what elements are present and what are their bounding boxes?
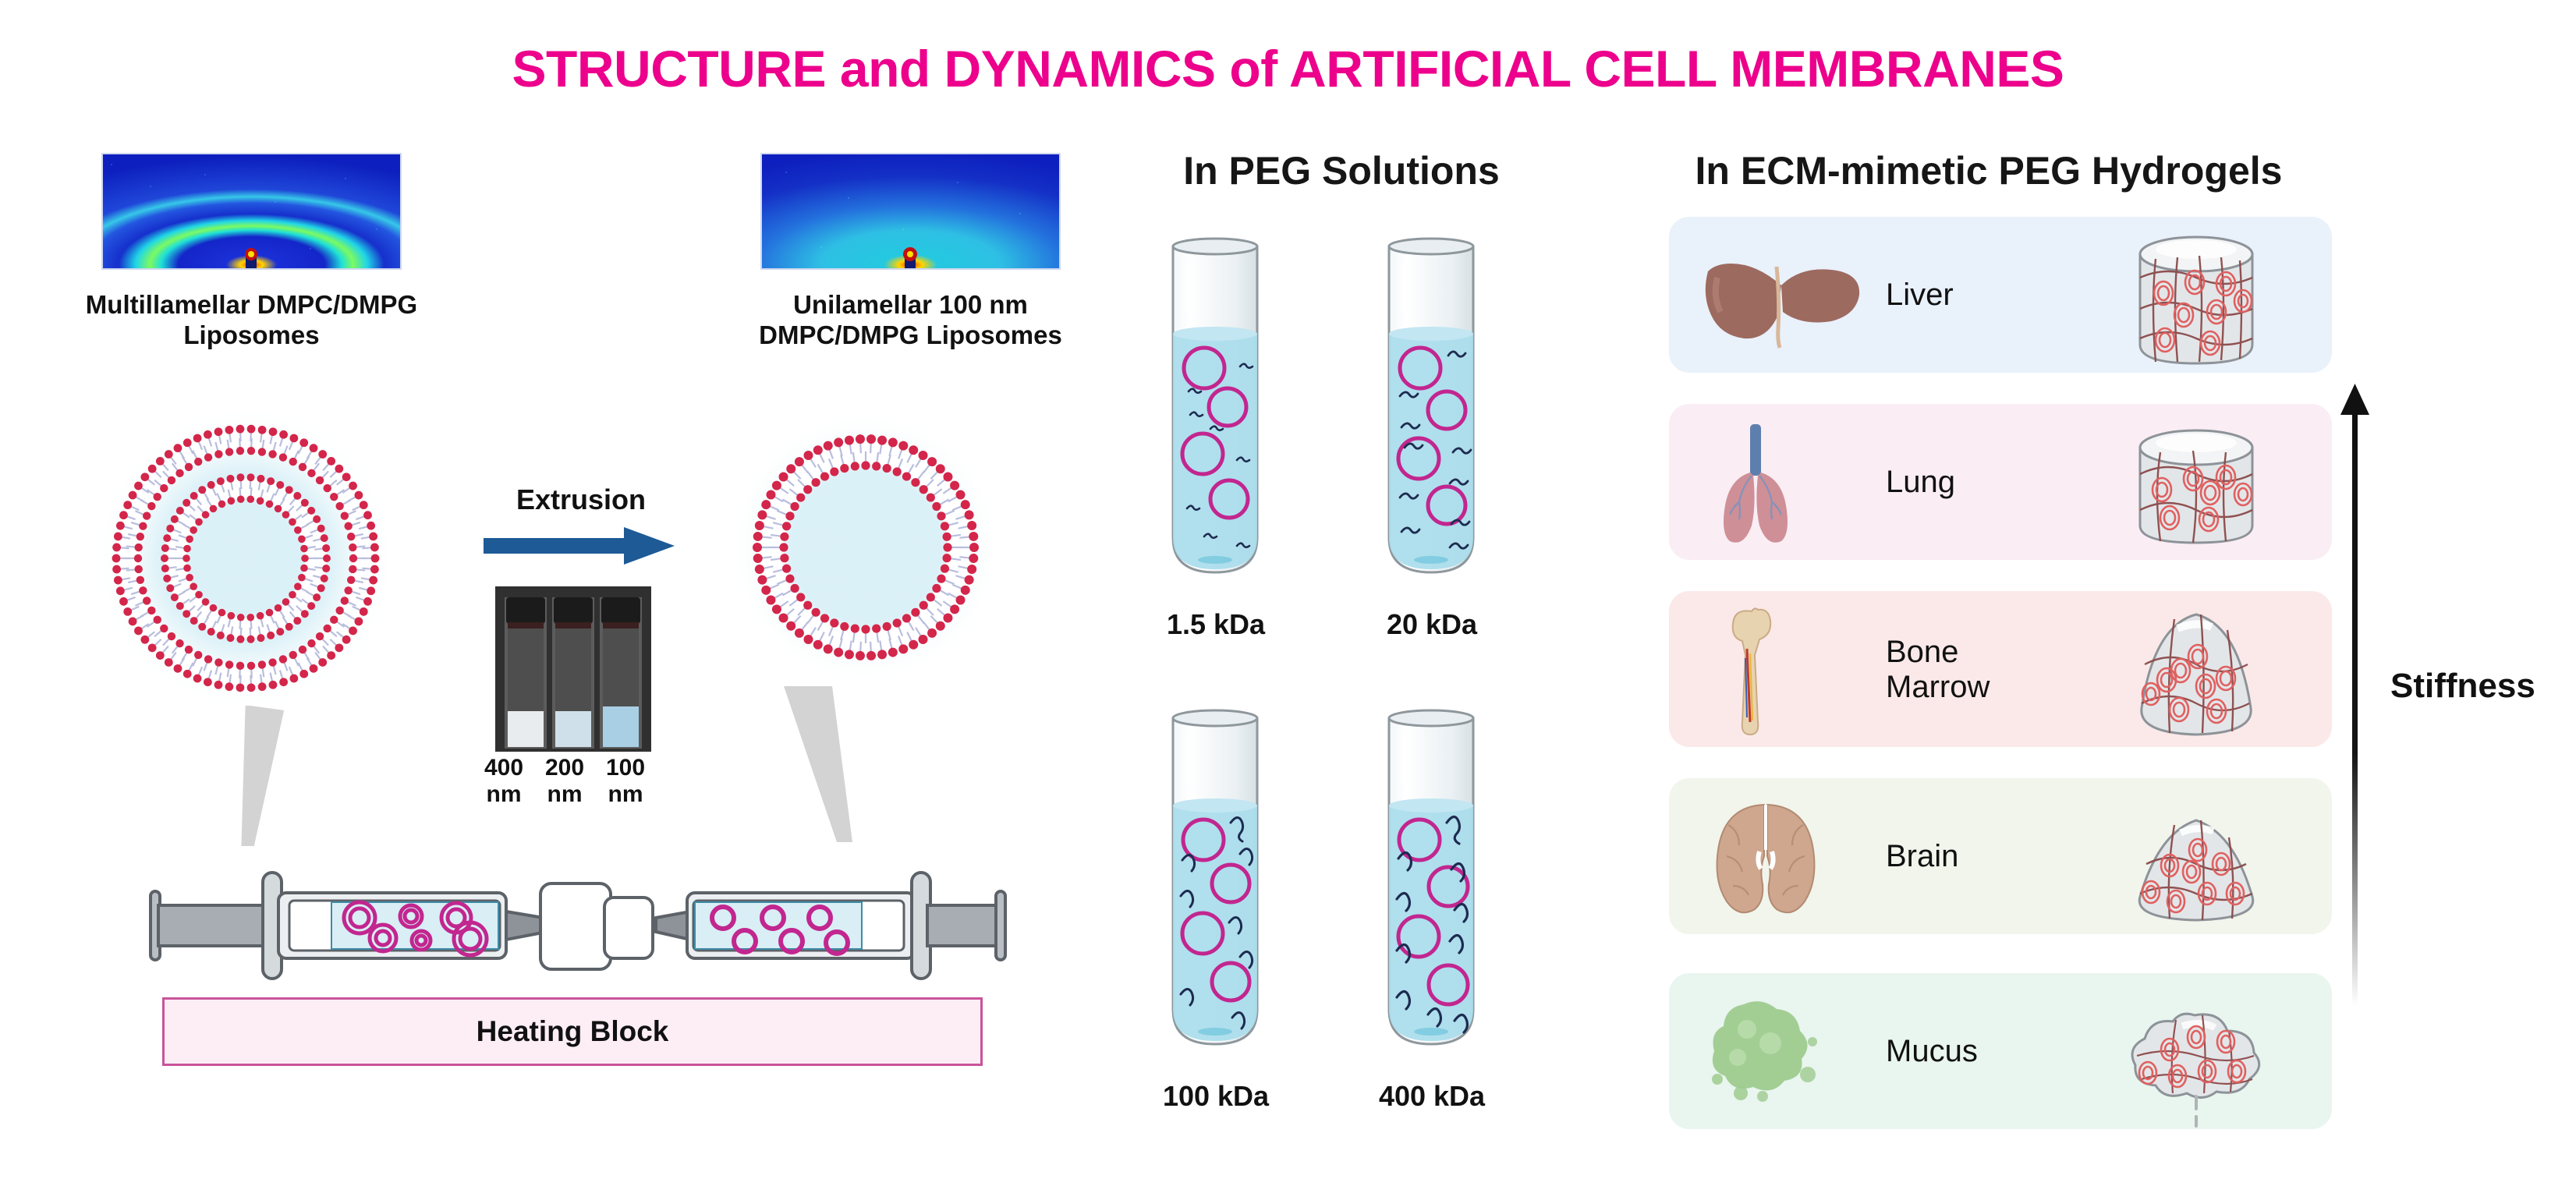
saxs-pattern-unilamellar-image — [760, 153, 1061, 270]
hydrogel-label-mucus: Mucus — [1886, 1034, 1978, 1069]
vial-size-100: 100 — [606, 755, 645, 781]
peg-tube-20kda — [1384, 234, 1478, 577]
hydrogel-label-lung: Lung — [1886, 465, 1955, 500]
peg-tube-400kda — [1384, 706, 1478, 1049]
extrusion-label: Extrusion — [468, 483, 694, 516]
heating-block-label: Heating Block — [477, 1015, 669, 1048]
vial-size-200: 200 — [545, 755, 584, 781]
unilamellar-pointer-wedge — [768, 686, 901, 842]
extruder-apparatus-icon — [144, 846, 1018, 1002]
peg-solutions-heading: In PEG Solutions — [1115, 148, 1568, 193]
peg-tube-100kda — [1168, 706, 1262, 1049]
peg-tube-1-5kda — [1168, 234, 1262, 577]
heating-block: Heating Block — [162, 997, 983, 1066]
hydrogel-row-lung: Lung — [1669, 404, 2332, 560]
unilamellar-liposome-icon — [725, 413, 1006, 694]
saxs-multilamellar-caption: Multillamellar DMPC/DMPG Liposomes — [0, 290, 503, 351]
saxs-pattern-multilamellar-image — [101, 153, 402, 270]
saxs-unilamellar-caption: Unilamellar 100 nm DMPC/DMPG Liposomes — [667, 290, 1154, 351]
hydrogel-row-mucus: Mucus — [1669, 973, 2332, 1129]
stiffness-axis-label: Stiffness — [2390, 667, 2535, 706]
hydrogel-row-bone-marrow: Bone Marrow — [1669, 591, 2332, 747]
figure-title: STRUCTURE and DYNAMICS of ARTIFICIAL CEL… — [0, 39, 2576, 98]
peg-tube-label-20kda: 20 kDa — [1361, 608, 1503, 641]
hydrogel-heading: In ECM-mimetic PEG Hydrogels — [1630, 148, 2347, 193]
hydrogel-label-bone-marrow: Bone Marrow — [1886, 635, 1990, 705]
vial-label-400nm: 400 nm — [476, 755, 532, 807]
peg-tube-label-1-5kda: 1.5 kDa — [1145, 608, 1287, 641]
vial-unit-400: nm — [487, 781, 522, 807]
multilamellar-pointer-wedge — [187, 706, 304, 846]
hydrogel-row-brain: Brain — [1669, 778, 2332, 934]
vial-size-400: 400 — [484, 755, 523, 781]
peg-tube-label-400kda: 400 kDa — [1361, 1080, 1503, 1113]
hydrogel-row-liver: Liver — [1669, 217, 2332, 373]
vial-unit-100: nm — [608, 781, 643, 807]
vial-unit-200: nm — [547, 781, 583, 807]
vial-label-200nm: 200 nm — [537, 755, 593, 807]
extrusion-vials-photo — [495, 586, 651, 752]
hydrogel-label-brain: Brain — [1886, 839, 1958, 874]
vial-label-100nm: 100 nm — [597, 755, 654, 807]
peg-tube-label-100kda: 100 kDa — [1145, 1080, 1287, 1113]
extrusion-arrow-icon — [484, 522, 679, 569]
hydrogel-label-liver: Liver — [1886, 278, 1954, 313]
stiffness-axis-arrow-icon — [2340, 382, 2386, 1006]
multilamellar-liposome-icon — [86, 405, 406, 717]
